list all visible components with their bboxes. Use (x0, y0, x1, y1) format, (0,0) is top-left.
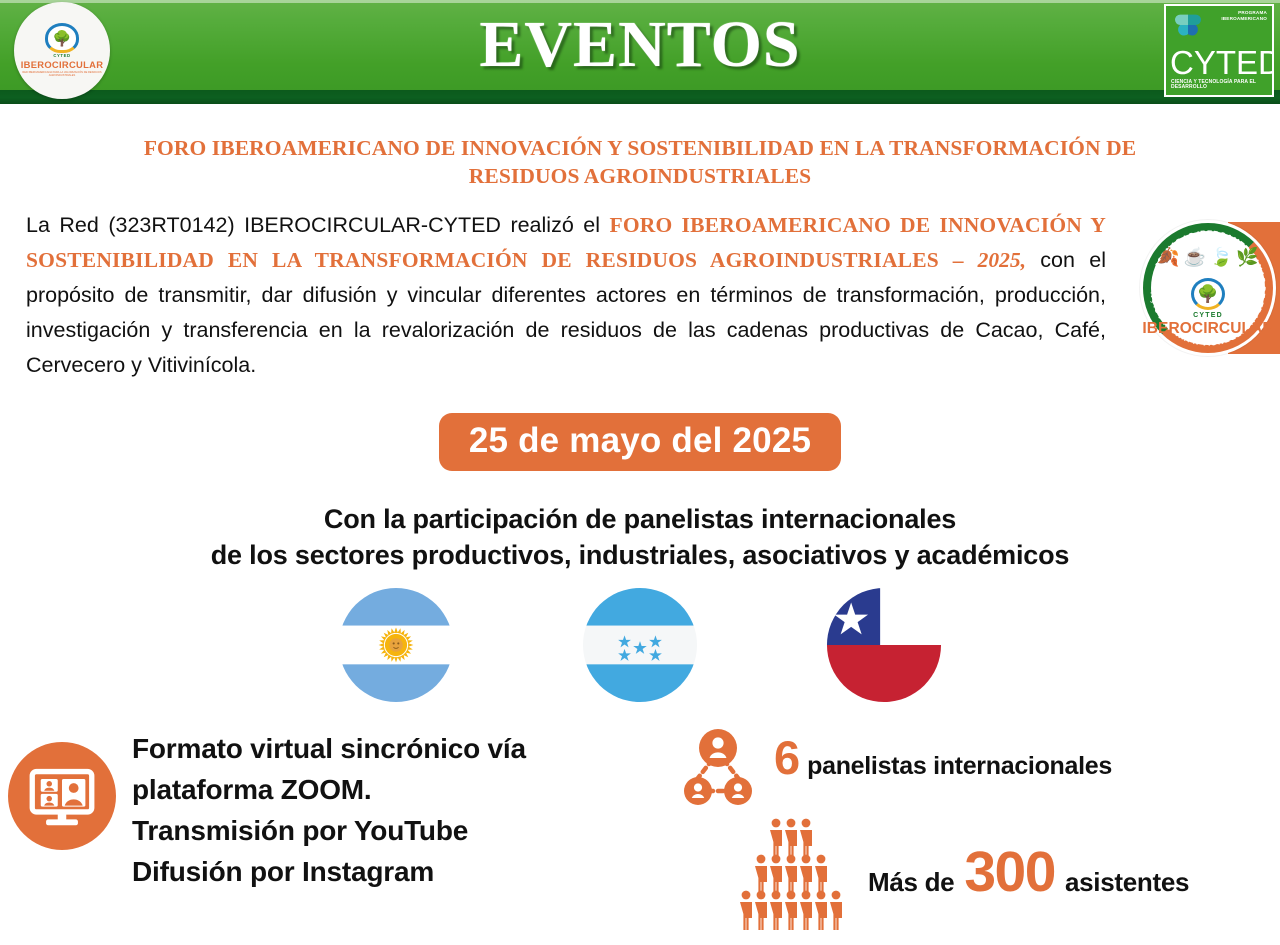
paragraph-highlight-year: 2025, (978, 248, 1026, 272)
participation-headline: Con la participación de panelistas inter… (0, 501, 1280, 573)
cyted-program-line2: IBEROAMERICANO (1221, 16, 1267, 22)
header-top-highlight (0, 0, 1280, 3)
cyted-pinwheel-icon (1175, 12, 1201, 38)
attendees-text: Más de 300 asistentes (868, 844, 1189, 907)
format-line-3: Transmisión por YouTube (132, 810, 526, 851)
argentina-flag-icon (338, 587, 454, 703)
crowd-pyramid-icon (736, 816, 852, 934)
panelists-text: 6 panelistas internacionales (774, 724, 1112, 781)
participation-line1: Con la participación de panelistas inter… (0, 501, 1280, 537)
logo-tagline: RED IBEROAMERICANA PARA LA VALORIZACIÓN … (20, 71, 104, 77)
cyted-tree-emblem-icon: 🌳 (45, 23, 79, 53)
cyted-program-text: PROGRAMA IBEROAMERICANO (1221, 10, 1267, 22)
badge-inner-emblem-icon: 🌳 (1191, 278, 1225, 310)
jornadas-iberocircular-badge: JORNADAS IBEROAMERICANAS DE TRANSFERENCI… (1140, 220, 1276, 356)
cacao-pod-icon: 🍂 (1157, 248, 1179, 266)
attendees-count: 300 (964, 844, 1055, 901)
chile-flag-icon (826, 587, 942, 703)
format-line-2: plataforma ZOOM. (132, 769, 526, 810)
badge-crop-icons: 🍂 ☕ 🍃 🌿 (1157, 248, 1259, 266)
format-line-1: Formato virtual sincrónico vía (132, 728, 526, 769)
participation-line2: de los sectores productivos, industriale… (0, 537, 1280, 573)
bottom-stats-row: Formato virtual sincrónico vía plataform… (0, 716, 1280, 945)
logo-iberocircular-name: IBEROCIRCULAR (21, 60, 104, 69)
cyted-logo: PROGRAMA IBEROAMERICANO CYTED CIENCIA Y … (1164, 4, 1274, 97)
cyted-wordmark: CYTED (1170, 46, 1270, 79)
panelists-count: 6 (774, 734, 799, 781)
event-date-badge: 25 de mayo del 2025 (439, 413, 841, 471)
cyted-subtitle: CIENCIA Y TECNOLOGÍA PARA EL DESARROLLO (1171, 80, 1269, 90)
hops-icon: 🍃 (1210, 248, 1232, 266)
jornadas-badge-wrap: JORNADAS IBEROAMERICANAS DE TRANSFERENCI… (1140, 212, 1280, 364)
event-format-block: Formato virtual sincrónico vía plataform… (8, 726, 526, 892)
iberocircular-logo: 🌳 CYTED IBEROCIRCULAR RED IBEROAMERICANA… (14, 2, 110, 99)
coffee-bean-icon: ☕ (1184, 248, 1206, 266)
attendees-suffix: asistentes (1065, 867, 1189, 898)
panelists-block: 6 panelistas internacionales (676, 724, 1112, 812)
honduras-flag-icon (582, 587, 698, 703)
header-banner: 🌳 CYTED IBEROCIRCULAR RED IBEROAMERICANA… (0, 0, 1280, 104)
badge-cyted-label: CYTED (1140, 312, 1276, 319)
intro-paragraph: La Red (323RT0142) IBEROCIRCULAR-CYTED r… (26, 208, 1106, 383)
people-network-icon (676, 724, 766, 812)
format-line-4: Difusión por Instagram (132, 851, 526, 892)
forum-title: FORO IBEROAMERICANO DE INNOVACIÓN Y SOST… (135, 134, 1145, 190)
page-title: EVENTOS (0, 4, 1280, 86)
flags-row (0, 587, 1280, 703)
attendees-block: Más de 300 asistentes (736, 816, 1189, 934)
paragraph-part1: La Red (323RT0142) IBEROCIRCULAR-CYTED r… (26, 213, 610, 237)
grape-leaf-icon: 🌿 (1236, 248, 1258, 266)
date-row: 25 de mayo del 2025 (0, 413, 1280, 471)
event-format-text: Formato virtual sincrónico vía plataform… (132, 726, 526, 892)
slide-root: 🌳 CYTED IBEROCIRCULAR RED IBEROAMERICANA… (0, 0, 1280, 945)
panelists-label: panelistas internacionales (807, 752, 1112, 781)
attendees-prefix: Más de (868, 867, 954, 898)
video-conference-icon (8, 742, 116, 850)
badge-iberocircular-label: IBEROCIRCULAR (1140, 320, 1276, 338)
